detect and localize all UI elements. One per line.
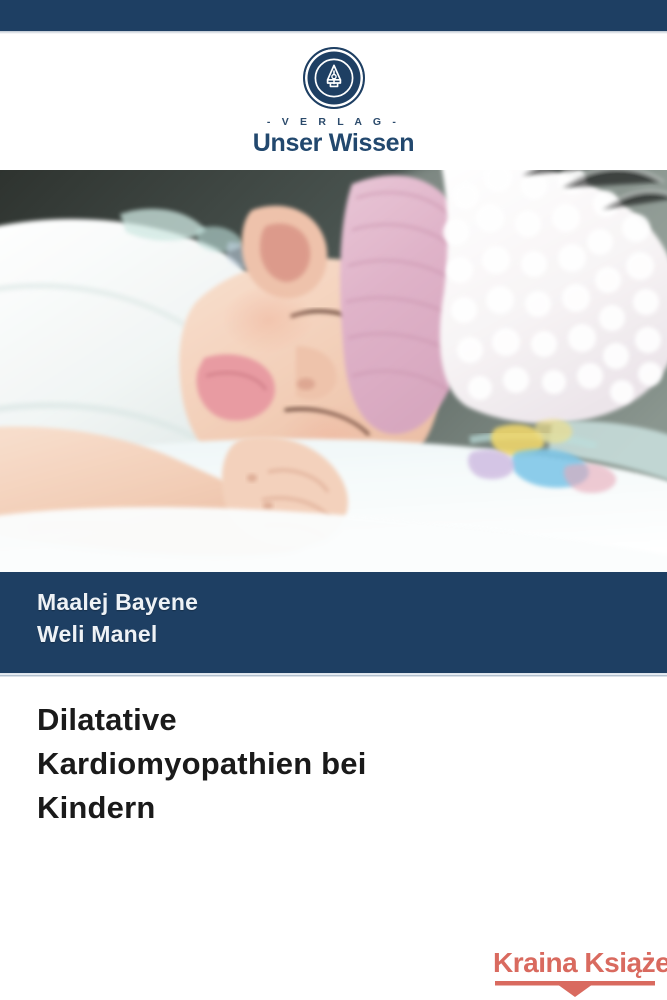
publisher-tagline: - V E R L A G -	[267, 116, 400, 128]
book-title: Dilatative Kardiomyopathien bei Kindern	[37, 698, 597, 830]
title-line-1: Dilatative	[37, 698, 597, 742]
book-cover: - V E R L A G - Unser Wissen	[0, 0, 667, 1000]
publisher-name: Unser Wissen	[253, 130, 415, 157]
author-name-2: Weli Manel	[37, 618, 667, 650]
author-name-1: Maalej Bayene	[37, 586, 667, 618]
open-book-icon	[495, 981, 655, 997]
watermark: Kraina Książek	[487, 945, 663, 997]
title-line-2: Kardiomyopathien bei	[37, 742, 597, 786]
top-navy-strip	[0, 0, 667, 31]
author-band: Maalej Bayene Weli Manel	[0, 572, 667, 673]
band-underline	[0, 673, 667, 677]
title-line-3: Kindern	[37, 786, 597, 830]
publisher-logo-block: - V E R L A G - Unser Wissen	[0, 34, 667, 170]
watermark-text: Kraina Książek	[493, 947, 667, 979]
fountain-pen-nib-icon	[303, 47, 365, 109]
cover-photo	[0, 170, 667, 572]
